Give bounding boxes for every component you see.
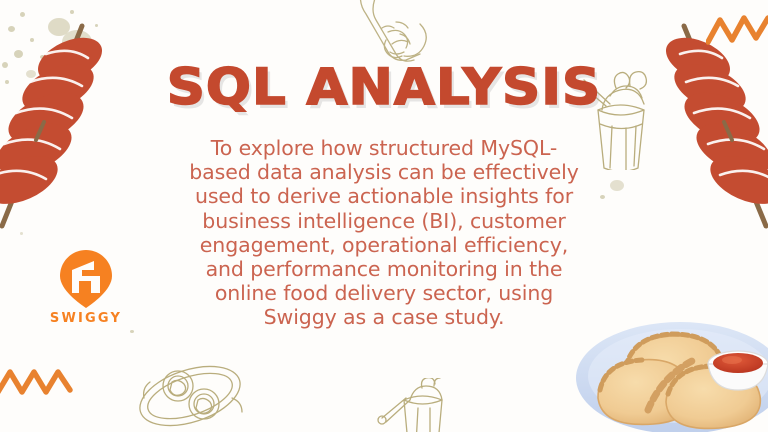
page-title: SQL ANALYSIS: [167, 62, 602, 112]
slide-content: SQL ANALYSIS To explore how structured M…: [0, 0, 768, 432]
swiggy-wordmark: SWIGGY: [44, 311, 128, 326]
slide-canvas: SWIGGY SQL ANALYSIS To explore how struc…: [0, 0, 768, 432]
swiggy-pin-icon: [44, 250, 128, 308]
slide-description: To explore how structured MySQL-based da…: [189, 136, 579, 330]
swiggy-logo: SWIGGY: [44, 250, 128, 326]
